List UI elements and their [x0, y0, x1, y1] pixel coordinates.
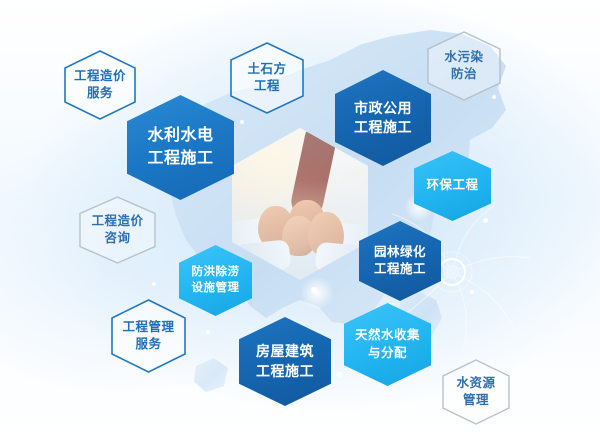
hex-engineering-cost-consulting[interactable]: 工程造价 咨询	[79, 196, 156, 264]
hex-label: 水污染 防治	[444, 49, 483, 84]
hex-environmental-protection-engineering[interactable]: 环保工程	[414, 151, 491, 221]
hex-landscaping-engineering-construction[interactable]: 园林绿化 工程施工	[359, 221, 441, 301]
hex-water-resources-management[interactable]: 水资源 管理	[442, 359, 510, 425]
hex-engineering-cost-service[interactable]: 工程造价 服务	[64, 50, 136, 120]
hex-label: 天然水收集 与分配	[355, 327, 420, 362]
hex-label: 工程造价 服务	[74, 68, 126, 103]
hex-natural-water-collection-distribution[interactable]: 天然水收集 与分配	[344, 303, 431, 386]
sparkle-dot	[337, 372, 342, 377]
hex-label: 房屋建筑 工程施工	[256, 342, 314, 381]
sparkle-dot	[368, 406, 373, 411]
hex-building-construction-engineering[interactable]: 房屋建筑 工程施工	[239, 317, 331, 406]
sparkle-dot	[240, 120, 244, 124]
hex-flood-control-drainage-facility-management[interactable]: 防洪除涝 设施管理	[179, 245, 252, 316]
infographic-canvas: 工程造价 服务 土石方 工程 水利水电 工程施工 市政公用 工程施工 水污染 防…	[0, 0, 600, 439]
hex-label: 水资源 管理	[456, 375, 495, 410]
hex-label: 土石方 工程	[247, 61, 286, 96]
hex-water-conservancy-hydropower-construction[interactable]: 水利水电 工程施工	[127, 95, 234, 200]
sparkle-dot	[470, 290, 474, 294]
hex-water-pollution-control[interactable]: 水污染 防治	[427, 31, 501, 101]
hex-earthwork-engineering[interactable]: 土石方 工程	[230, 42, 304, 114]
hex-label: 水利水电 工程施工	[147, 125, 213, 169]
sparkle-dot	[152, 282, 156, 286]
hex-label: 园林绿化 工程施工	[374, 244, 426, 279]
hex-label: 工程造价 咨询	[91, 213, 143, 248]
hex-engineering-management-service[interactable]: 工程管理 服务	[111, 299, 186, 373]
hex-label: 工程管理 服务	[122, 319, 174, 354]
glow-spot	[300, 276, 334, 310]
sparkle-dot	[206, 330, 210, 334]
hex-label: 防洪除涝 设施管理	[192, 265, 240, 297]
hex-label: 市政公用 工程施工	[354, 99, 412, 138]
hex-label: 环保工程	[426, 177, 478, 194]
